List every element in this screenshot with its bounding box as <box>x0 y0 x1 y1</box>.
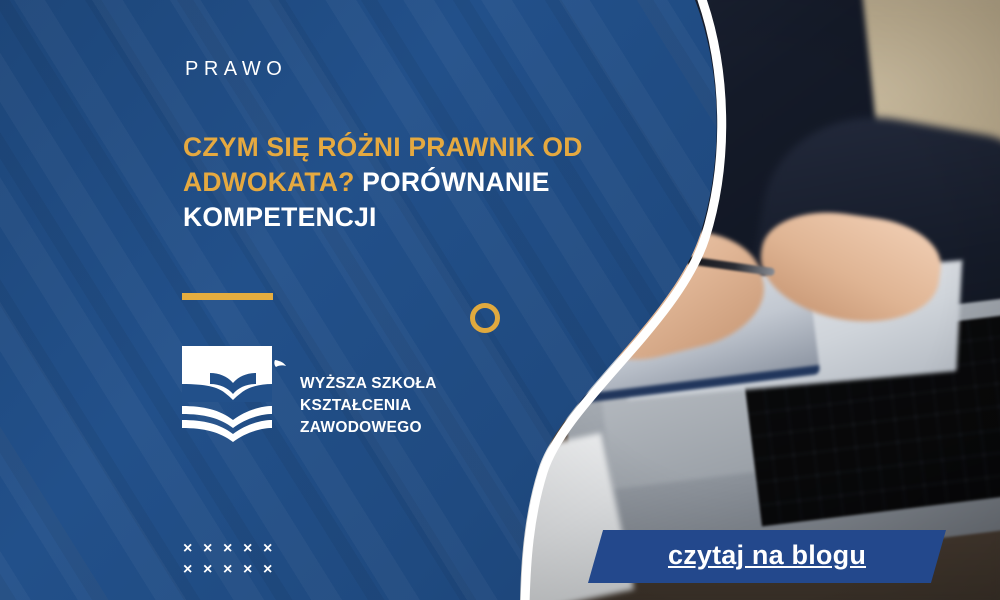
logo-line-2: KSZTAŁCENIA <box>300 395 437 417</box>
university-logo: WYŻSZA SZKOŁA KSZTAŁCENIA ZAWODOWEGO <box>180 340 437 446</box>
read-on-blog-button[interactable]: czytaj na blogu <box>588 530 946 583</box>
gold-ring-icon <box>470 303 500 333</box>
blue-panel-fill <box>0 0 760 600</box>
x-glyph: × <box>243 538 263 559</box>
x-glyph: × <box>223 559 243 580</box>
logo-line-3: ZAWODOWEGO <box>300 417 437 439</box>
x-glyph: × <box>183 559 203 580</box>
x-pattern-decoration: × × × × × × × × × × <box>183 538 283 580</box>
x-glyph: × <box>183 538 203 559</box>
x-glyph: × <box>263 538 283 559</box>
x-glyph: × <box>203 559 223 580</box>
blue-content-panel <box>0 0 760 600</box>
blog-promo-banner: PRAWO CZYM SIĘ RÓŻNI PRAWNIK OD ADWOKATA… <box>0 0 1000 600</box>
x-glyph: × <box>203 538 223 559</box>
page-title: CZYM SIĘ RÓŻNI PRAWNIK OD ADWOKATA? PORÓ… <box>183 130 623 236</box>
x-glyph: × <box>223 538 243 559</box>
x-glyph: × <box>263 559 283 580</box>
logo-wordmark: WYŻSZA SZKOŁA KSZTAŁCENIA ZAWODOWEGO <box>300 373 437 439</box>
category-label: PRAWO <box>185 58 287 81</box>
gold-divider-rule <box>182 293 273 300</box>
open-book-logo-mark <box>180 340 286 446</box>
logo-line-1: WYŻSZA SZKOŁA <box>300 373 437 395</box>
x-glyph: × <box>243 559 263 580</box>
